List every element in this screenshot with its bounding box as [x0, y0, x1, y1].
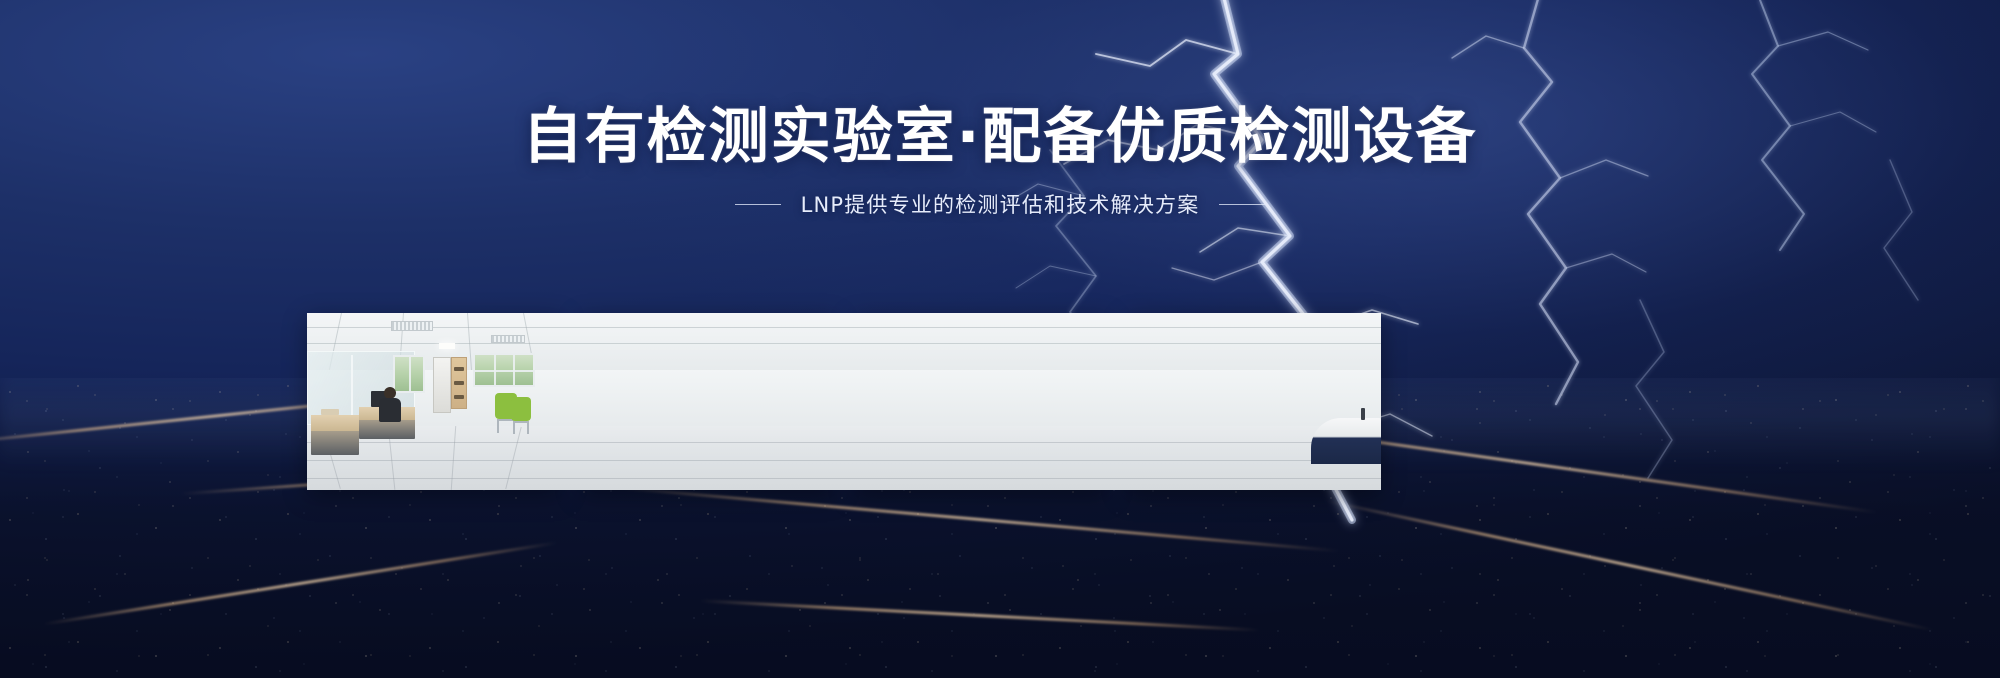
shelf-item [454, 381, 464, 385]
shelf-item [454, 395, 464, 399]
office-worker [379, 387, 401, 425]
ceiling-vent [491, 335, 525, 343]
desk-item [321, 409, 339, 415]
office-wall [307, 370, 1381, 430]
hero-headline: 自有检测实验室·配备优质检测设备 [0, 104, 2000, 171]
office-window [473, 353, 535, 387]
photo-strip: 广东雷宁普电气检测技术有限公司 Guangdong Lighting Prote… [307, 313, 1381, 490]
left-rule-line [735, 204, 781, 205]
counter-item [1361, 408, 1365, 420]
hero-text-block: 自有检测实验室·配备优质检测设备 LNP提供专业的检测评估和技术解决方案 [0, 104, 2000, 219]
hero-subtitle: LNP提供专业的检测评估和技术解决方案 [801, 189, 1200, 219]
photo-open-office-image [307, 313, 1381, 490]
shelf-item [454, 367, 464, 371]
hero-subtitle-row: LNP提供专业的检测评估和技术解决方案 [0, 189, 2000, 219]
office-desk [311, 415, 359, 455]
ceiling-vent [391, 321, 433, 331]
office-floor [307, 426, 1381, 490]
storage-cabinet [433, 357, 451, 413]
hero-banner: 自有检测实验室·配备优质检测设备 LNP提供专业的检测评估和技术解决方案 [0, 0, 2000, 678]
visitor-chair [511, 397, 531, 421]
ceiling-light [439, 343, 455, 349]
photo-open-office[interactable] [1126, 313, 1381, 490]
office-ceiling [307, 313, 1381, 373]
reception-counter [1311, 418, 1381, 464]
right-rule-line [1219, 204, 1265, 205]
